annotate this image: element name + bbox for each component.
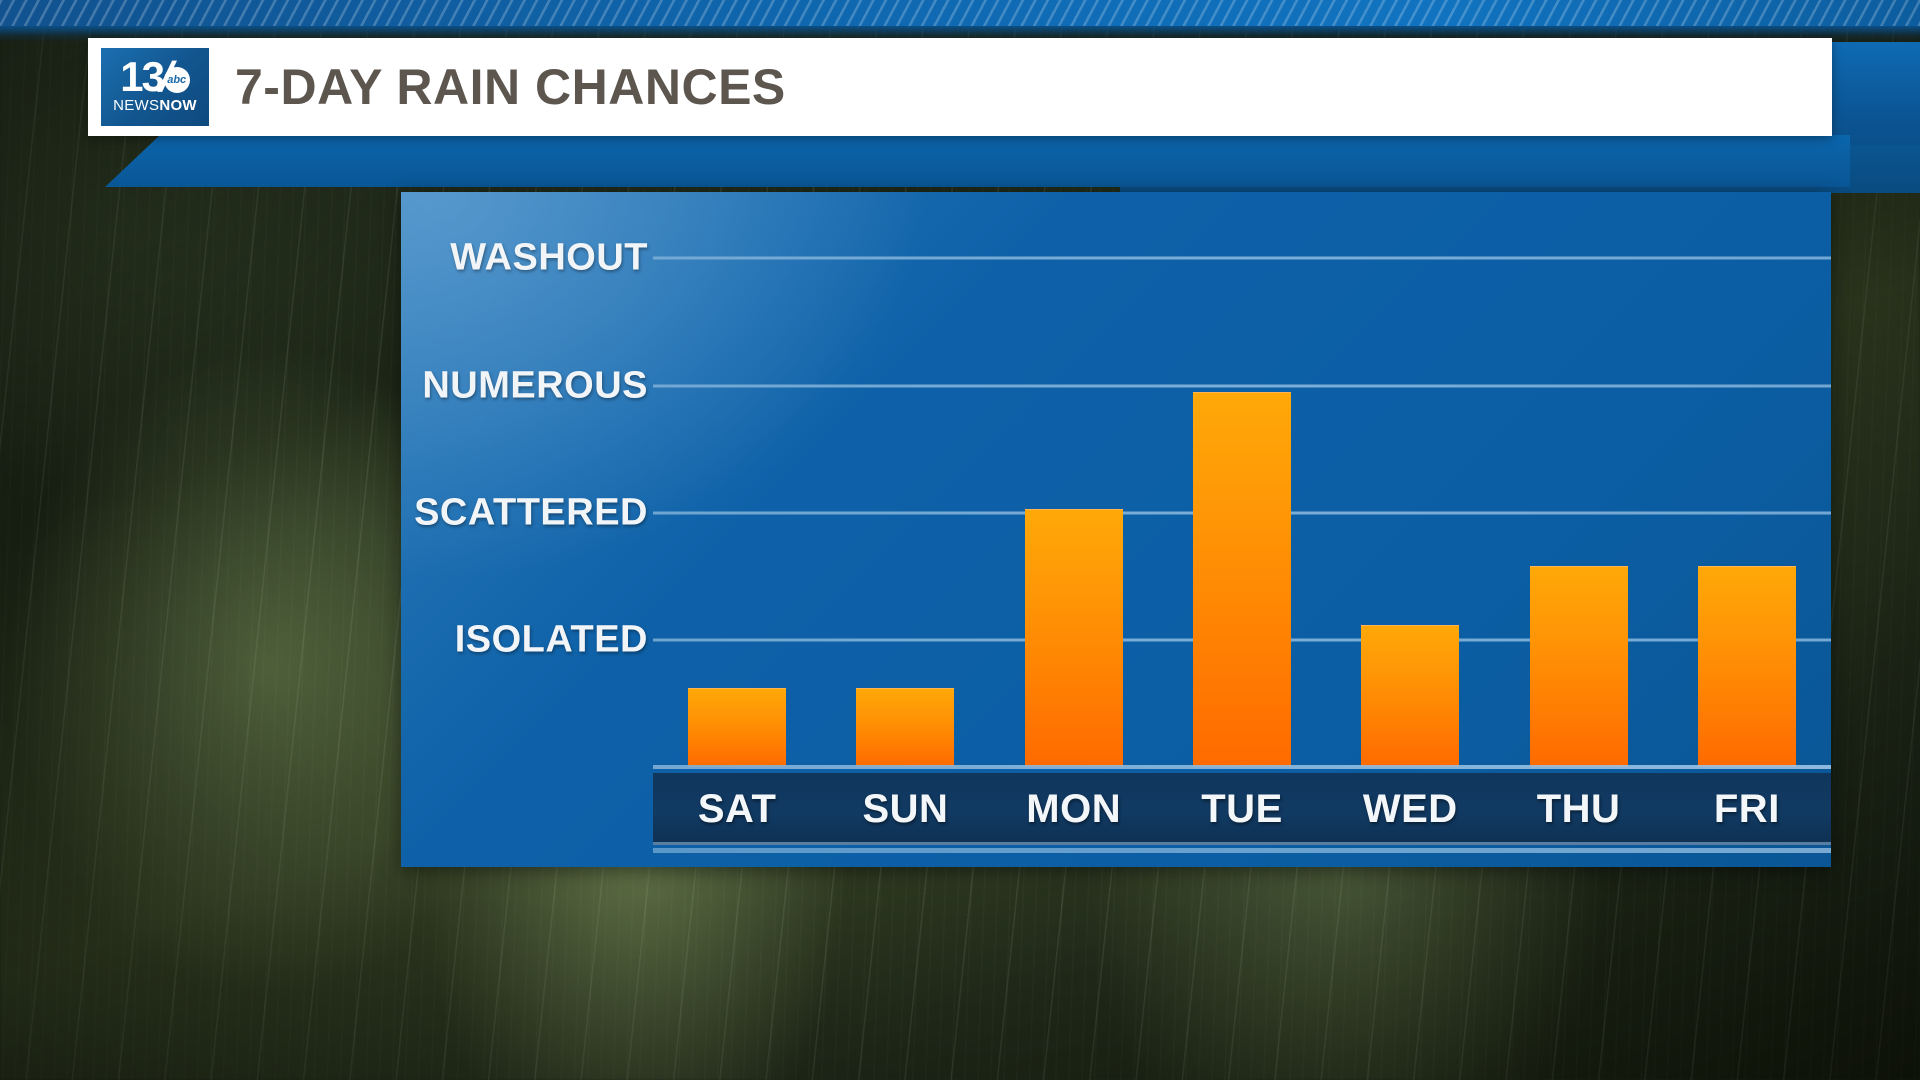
- gridline-washout: [653, 257, 1831, 260]
- rain-chance-chart-panel: ISOLATEDSCATTEREDNUMEROUSWASHOUT SATSUNM…: [401, 192, 1831, 867]
- y-axis-label-scattered: SCATTERED: [414, 491, 648, 534]
- x-axis-label-sun: SUN: [856, 787, 954, 832]
- logo-top-row: 13 / abc: [120, 60, 189, 94]
- bar-mon: [1025, 509, 1123, 767]
- chart-baseline: [653, 765, 1831, 769]
- gridline-numerous: [653, 384, 1831, 387]
- bar-sun: [856, 688, 954, 767]
- title-bar-underlay-wedge: [105, 135, 1850, 187]
- logo-brand-news: NEWS: [113, 97, 159, 114]
- y-axis-label-isolated: ISOLATED: [455, 618, 648, 661]
- x-axis-label-sat: SAT: [688, 787, 786, 832]
- x-axis-label-thu: THU: [1530, 787, 1628, 832]
- x-axis-label-wed: WED: [1361, 787, 1459, 832]
- bar-thu: [1530, 566, 1628, 767]
- x-axis-underline: [653, 848, 1831, 853]
- bar-fri: [1698, 566, 1796, 767]
- bar-sat: [688, 688, 786, 767]
- x-axis-label-mon: MON: [1025, 787, 1123, 832]
- bar-tue: [1193, 392, 1291, 767]
- x-axis-label-fri: FRI: [1698, 787, 1796, 832]
- title-bar: 13 / abc NEWSNOW 7-DAY RAIN CHANCES: [88, 38, 1832, 136]
- station-logo: 13 / abc NEWSNOW: [101, 48, 209, 126]
- x-axis-day-strip: SATSUNMONTUEWEDTHUFRI: [653, 773, 1831, 845]
- bar-wed: [1361, 625, 1459, 767]
- y-axis-label-washout: WASHOUT: [450, 237, 648, 280]
- y-axis-label-numerous: NUMEROUS: [422, 364, 648, 407]
- x-axis-label-tue: TUE: [1193, 787, 1291, 832]
- top-hatched-band: [0, 0, 1920, 26]
- page-title: 7-DAY RAIN CHANCES: [235, 58, 786, 116]
